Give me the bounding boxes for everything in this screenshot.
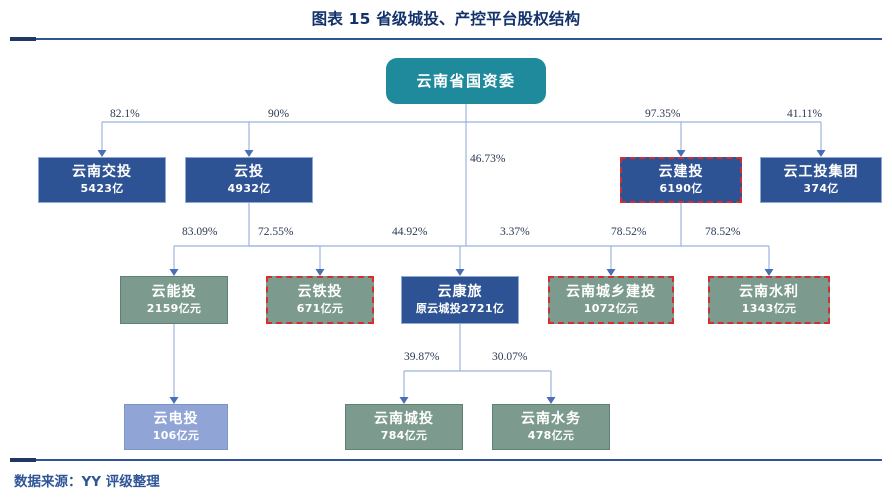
node-name: 云南水务 — [521, 412, 581, 428]
edge-percent-root-to-ynjt: 82.1% — [110, 108, 140, 120]
source-note: 数据来源：YY 评级整理 — [14, 470, 160, 490]
arrow-yncxjt — [607, 269, 616, 276]
node-name: 云南城乡建投 — [566, 285, 656, 301]
node-name: 云电投 — [154, 412, 199, 428]
node-amount: 原云城投2721亿 — [416, 303, 504, 316]
edge-percent-root-to-yjt: 97.35% — [645, 108, 680, 120]
org-node-yt[interactable]: 云投4932亿 — [185, 157, 313, 203]
node-name: 云能投 — [152, 285, 197, 301]
edge-percent-yjt-to-ykl: 3.37% — [500, 226, 530, 238]
node-name: 云南水利 — [739, 285, 799, 301]
node-name: 云工投集团 — [784, 165, 859, 181]
node-name: 云南省国资委 — [416, 73, 515, 90]
edge-percent-yjt-to-ynsl: 78.52% — [705, 226, 740, 238]
org-node-root[interactable]: 云南省国资委 — [386, 58, 546, 104]
node-name: 云康旅 — [438, 285, 483, 301]
node-name: 云铁投 — [298, 285, 343, 301]
org-node-ytt[interactable]: 云铁投671亿元 — [266, 276, 374, 324]
org-node-ynt[interactable]: 云能投2159亿元 — [120, 276, 228, 324]
node-amount: 478亿元 — [528, 430, 574, 443]
edge-percent-yjt-to-yncxjt: 78.52% — [611, 226, 646, 238]
node-amount: 374亿 — [803, 183, 838, 196]
node-amount: 2159亿元 — [147, 303, 201, 316]
node-amount: 671亿元 — [297, 303, 343, 316]
arrow-ynsl — [765, 269, 774, 276]
node-amount: 1343亿元 — [742, 303, 796, 316]
arrow-ydt — [170, 397, 179, 404]
edge-percent-root-to-ygtjt: 41.11% — [787, 108, 822, 120]
arrow-yjt — [677, 150, 686, 157]
node-amount: 4932亿 — [227, 183, 270, 196]
edge-percent-ykl-to-ynsw: 30.07% — [492, 351, 527, 363]
node-amount: 784亿元 — [381, 430, 427, 443]
arrow-ygtjt — [817, 150, 826, 157]
edge-percent-yt-to-ytt: 72.55% — [258, 226, 293, 238]
node-amount: 106亿元 — [153, 430, 199, 443]
org-node-ynsl[interactable]: 云南水利1343亿元 — [708, 276, 830, 324]
org-node-ydt[interactable]: 云电投106亿元 — [124, 404, 228, 450]
org-node-ynjt[interactable]: 云南交投5423亿 — [38, 157, 166, 203]
org-node-ykl[interactable]: 云康旅原云城投2721亿 — [401, 276, 519, 324]
edge-percent-root-to-yt: 90% — [268, 108, 289, 120]
ownership-chart-root: 图表 15 省级城投、产控平台股权结构 云南省国资委云南交投5423亿云投493… — [0, 0, 892, 498]
arrow-ynt — [170, 269, 179, 276]
node-amount: 6190亿 — [659, 183, 702, 196]
node-amount: 1072亿元 — [584, 303, 638, 316]
footer-divider — [10, 459, 882, 461]
node-name: 云南城投 — [374, 412, 434, 428]
arrow-ynsw — [547, 397, 556, 404]
arrow-ykl — [456, 269, 465, 276]
org-node-yncxjt[interactable]: 云南城乡建投1072亿元 — [548, 276, 674, 324]
node-name: 云建投 — [659, 165, 704, 181]
org-node-ynsw[interactable]: 云南水务478亿元 — [492, 404, 610, 450]
edge-percent-root-to-ykl: 46.73% — [470, 153, 505, 165]
org-node-ygtjt[interactable]: 云工投集团374亿 — [760, 157, 882, 203]
arrow-ynjt — [98, 150, 107, 157]
node-name: 云南交投 — [72, 165, 132, 181]
edge-percent-ykl-to-ynct: 39.87% — [404, 351, 439, 363]
arrow-yt — [245, 150, 254, 157]
arrow-ynct — [400, 397, 409, 404]
edge-percent-yt-to-ykl: 44.92% — [392, 226, 427, 238]
edge-percent-yt-to-ynt: 83.09% — [182, 226, 217, 238]
arrow-ytt — [316, 269, 325, 276]
node-name: 云投 — [234, 165, 264, 181]
org-node-ynct[interactable]: 云南城投784亿元 — [345, 404, 463, 450]
org-node-yjt[interactable]: 云建投6190亿 — [620, 157, 742, 203]
footer-divider-accent — [10, 458, 36, 462]
node-amount: 5423亿 — [80, 183, 123, 196]
